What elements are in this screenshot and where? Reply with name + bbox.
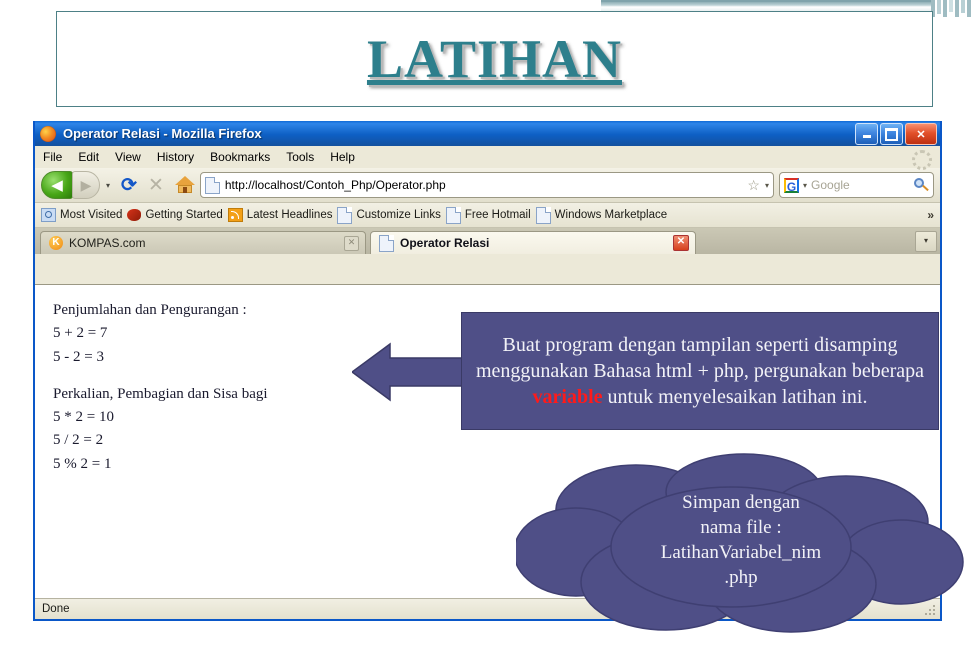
bookmarks-overflow-icon[interactable]: » bbox=[927, 208, 934, 222]
bookmark-getting-started[interactable]: Getting Started bbox=[127, 209, 222, 221]
bookmark-free-hotmail[interactable]: Free Hotmail bbox=[446, 207, 531, 224]
minimize-button[interactable] bbox=[855, 123, 878, 145]
window-title: Operator Relasi - Mozilla Firefox bbox=[63, 126, 262, 141]
content-line: 5 / 2 = 2 bbox=[53, 429, 940, 452]
chevron-down-icon[interactable]: ▾ bbox=[803, 181, 807, 190]
title-frame: LATIHAN bbox=[56, 11, 933, 107]
callout-box: Buat program dengan tampilan seperti dis… bbox=[461, 312, 939, 430]
page-title: LATIHAN bbox=[57, 28, 932, 90]
google-icon[interactable]: G bbox=[784, 178, 799, 193]
firefox-icon bbox=[40, 126, 56, 142]
bookmarks-toolbar: Most Visited Getting Started Latest Head… bbox=[35, 203, 940, 228]
slide-decor-stripe bbox=[937, 0, 941, 14]
window-titlebar: Operator Relasi - Mozilla Firefox ✕ bbox=[35, 121, 940, 146]
tab-operator-relasi[interactable]: Operator Relasi ✕ bbox=[370, 231, 696, 254]
tab-close-icon[interactable]: ✕ bbox=[673, 235, 689, 251]
forward-button[interactable]: ▶ bbox=[72, 171, 100, 199]
menu-history[interactable]: History bbox=[157, 150, 194, 164]
status-text: Done bbox=[42, 603, 70, 615]
tab-close-icon[interactable]: ✕ bbox=[344, 236, 359, 251]
home-icon[interactable] bbox=[175, 176, 195, 194]
callout-text-part2: untuk menyelesaikan latihan ini. bbox=[603, 386, 868, 408]
close-button[interactable]: ✕ bbox=[905, 123, 937, 145]
callout-text-part1: Buat program dengan tampilan seperti dis… bbox=[476, 334, 924, 382]
bookmark-latest-headlines[interactable]: Latest Headlines bbox=[228, 208, 333, 222]
slide-decor-stripe bbox=[967, 0, 971, 17]
tab-label: KOMPAS.com bbox=[69, 236, 338, 250]
menu-tools[interactable]: Tools bbox=[286, 150, 314, 164]
firefox-head-icon bbox=[127, 209, 141, 221]
menu-bookmarks[interactable]: Bookmarks bbox=[210, 150, 270, 164]
reload-icon[interactable]: ⟳ bbox=[121, 174, 137, 197]
tab-kompas[interactable]: K KOMPAS.com ✕ bbox=[40, 231, 366, 254]
page-icon bbox=[446, 207, 461, 224]
page-icon bbox=[536, 207, 551, 224]
cloud-callout: Simpan dengan nama file : LatihanVariabe… bbox=[516, 452, 966, 642]
folder-search-icon bbox=[41, 208, 56, 222]
navigation-toolbar: ◀ ▶ ▾ ⟳ ✕ http://localhost/Contoh_Php/Op… bbox=[35, 168, 940, 203]
menu-edit[interactable]: Edit bbox=[78, 150, 99, 164]
menu-file[interactable]: File bbox=[43, 150, 62, 164]
back-button[interactable]: ◀ bbox=[41, 171, 73, 199]
slide-decor-band bbox=[601, 2, 931, 11]
url-text: http://localhost/Contoh_Php/Operator.php bbox=[225, 178, 743, 192]
page-icon bbox=[205, 177, 220, 194]
tab-list-button[interactable]: ▾ bbox=[915, 231, 937, 252]
search-input[interactable]: Google bbox=[811, 178, 910, 192]
bookmark-star-icon[interactable]: ☆ bbox=[747, 177, 760, 194]
minimize-icon bbox=[863, 135, 871, 138]
address-bar[interactable]: http://localhost/Contoh_Php/Operator.php… bbox=[200, 172, 774, 198]
menu-view[interactable]: View bbox=[115, 150, 141, 164]
bookmark-most-visited[interactable]: Most Visited bbox=[41, 208, 122, 222]
window-controls: ✕ bbox=[855, 123, 937, 145]
bookmark-label: Free Hotmail bbox=[465, 209, 531, 221]
slide-decor-stripe bbox=[955, 0, 959, 17]
bookmark-label: Getting Started bbox=[145, 209, 222, 221]
search-bar[interactable]: G ▾ Google bbox=[779, 172, 934, 198]
bookmark-label: Latest Headlines bbox=[247, 209, 333, 221]
bookmark-label: Customize Links bbox=[356, 209, 440, 221]
slide-decor-stripe bbox=[961, 0, 965, 13]
tab-label: Operator Relasi bbox=[400, 236, 667, 250]
cloud-text: Simpan dengan nama file : LatihanVariabe… bbox=[516, 490, 966, 590]
slide-decor-stripe bbox=[943, 0, 947, 17]
rss-icon bbox=[228, 208, 243, 222]
chevron-down-icon[interactable]: ▾ bbox=[765, 181, 769, 190]
menu-help[interactable]: Help bbox=[330, 150, 355, 164]
callout-text: Buat program dengan tampilan seperti dis… bbox=[472, 332, 928, 410]
history-dropdown-icon[interactable]: ▾ bbox=[106, 181, 110, 190]
slide-decor-stripe bbox=[949, 0, 953, 12]
throbber-icon bbox=[912, 150, 932, 170]
bookmark-windows-marketplace[interactable]: Windows Marketplace bbox=[536, 207, 667, 224]
search-icon[interactable] bbox=[914, 178, 929, 193]
maximize-icon bbox=[885, 128, 898, 141]
stop-icon[interactable]: ✕ bbox=[148, 174, 164, 197]
bookmark-label: Most Visited bbox=[60, 209, 122, 221]
tab-strip: K KOMPAS.com ✕ Operator Relasi ✕ ▾ bbox=[35, 228, 940, 254]
page-icon bbox=[379, 235, 394, 252]
page-icon bbox=[337, 207, 352, 224]
callout-highlight: variable bbox=[533, 386, 603, 408]
bookmark-label: Windows Marketplace bbox=[555, 209, 667, 221]
kompas-icon: K bbox=[49, 236, 63, 250]
maximize-button[interactable] bbox=[880, 123, 903, 145]
bookmark-customize-links[interactable]: Customize Links bbox=[337, 207, 440, 224]
callout-arrow bbox=[352, 341, 467, 403]
menu-bar: File Edit View History Bookmarks Tools H… bbox=[35, 146, 940, 168]
